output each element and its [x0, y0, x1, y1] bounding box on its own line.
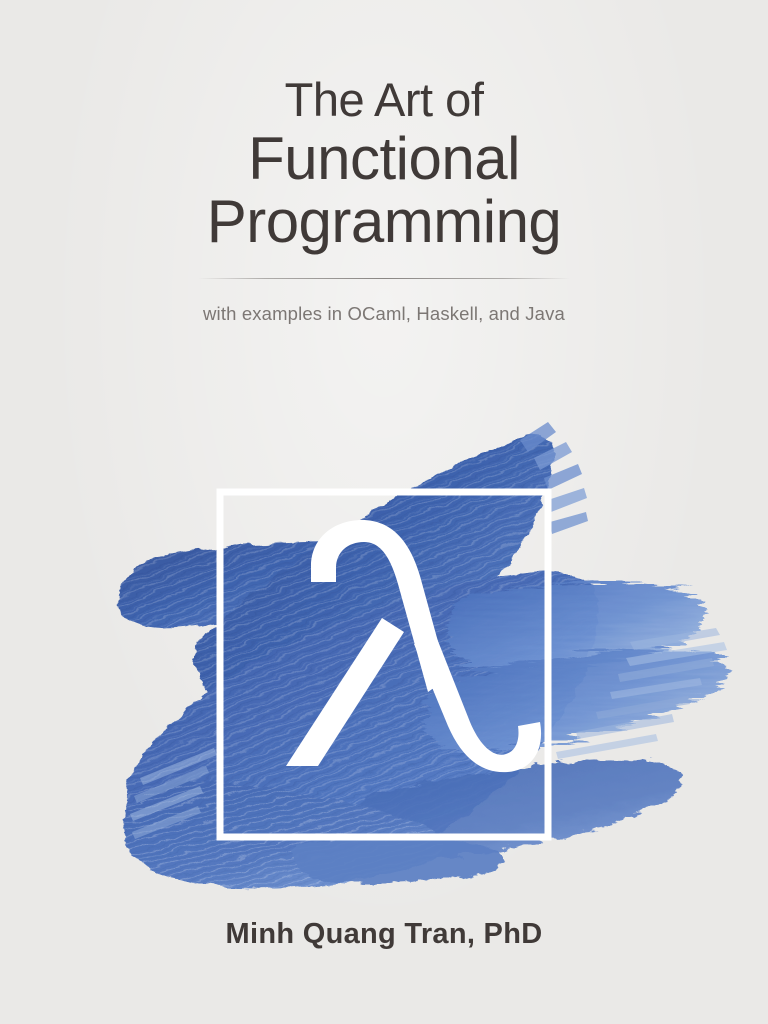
author-block: Minh Quang Tran, PhD: [0, 918, 768, 951]
title-block: The Art of Functional Programming with e…: [0, 76, 768, 325]
subtitle: with examples in OCaml, Haskell, and Jav…: [0, 303, 768, 325]
title-line-1: The Art of: [0, 76, 768, 124]
title-line-2: Functional: [0, 128, 768, 189]
book-cover: The Art of Functional Programming with e…: [0, 0, 768, 1024]
title-line-3: Programming: [0, 191, 768, 252]
brush-tail-bottom: [292, 838, 503, 884]
cover-artwork: [0, 392, 768, 892]
title-divider: [198, 278, 570, 279]
brushstroke-illustration: [0, 392, 768, 892]
author-name: Minh Quang Tran, PhD: [0, 918, 768, 951]
